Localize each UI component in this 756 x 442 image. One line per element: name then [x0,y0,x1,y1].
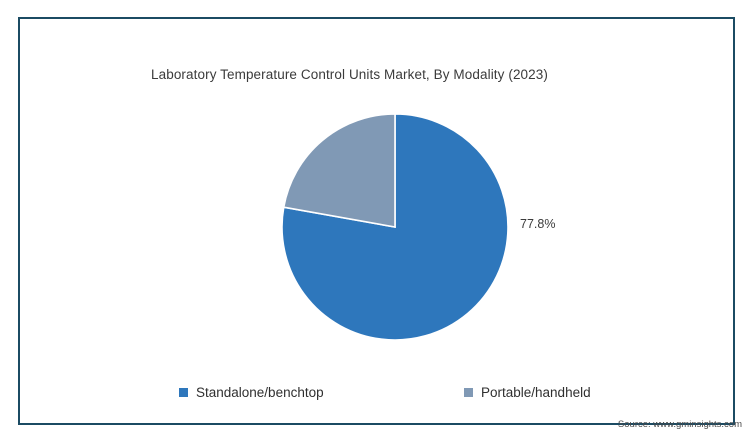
pie-chart-svg [282,114,508,340]
legend-item-label: Standalone/benchtop [196,385,324,400]
legend-item-label: Portable/handheld [481,385,591,400]
pie-slice-portable-handheld[interactable] [284,114,395,227]
chart-frame: Laboratory Temperature Control Units Mar… [18,17,735,425]
page-title: Laboratory Temperature Control Units Mar… [151,67,651,82]
source-attribution: Source: www.gminsights.com [20,419,742,430]
legend-item-portable-handheld[interactable]: Portable/handheld [464,385,591,400]
pie-chart [282,114,508,340]
chart-legend: Standalone/benchtop Portable/handheld [20,385,756,407]
pie-percent-label: 77.8% [520,217,555,231]
legend-swatch-icon [179,388,188,397]
legend-item-standalone-benchtop[interactable]: Standalone/benchtop [179,385,324,400]
legend-swatch-icon [464,388,473,397]
